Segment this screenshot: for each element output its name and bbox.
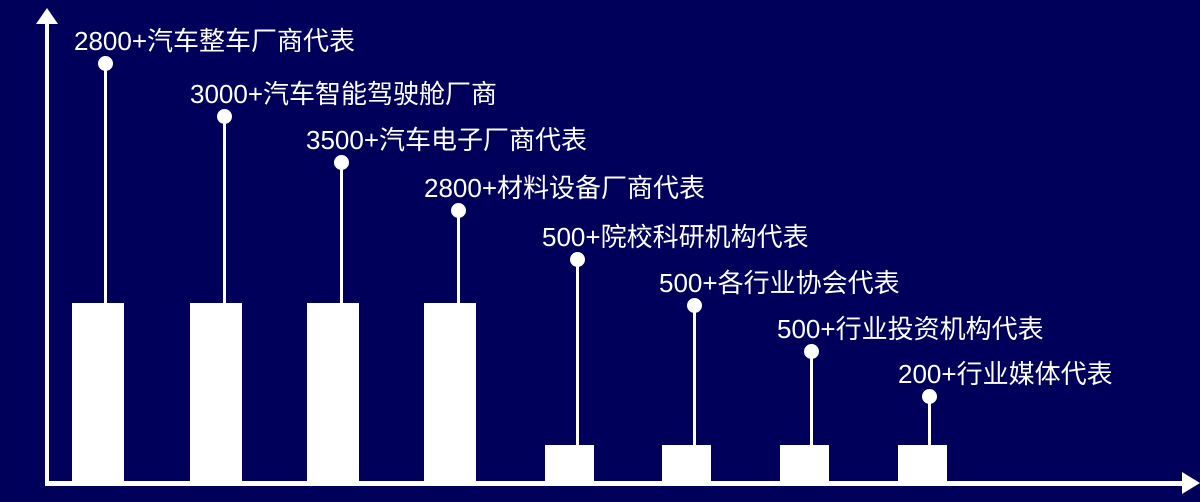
- callout-label-6: 500+各行业协会代表: [659, 268, 900, 298]
- bar-4: [424, 303, 476, 482]
- bar-5: [545, 445, 594, 482]
- callout-stem-1: [104, 63, 107, 303]
- bar-8: [898, 445, 947, 482]
- callout-dot-7: [804, 344, 819, 359]
- bar-1: [72, 303, 124, 482]
- callout-stem-7: [810, 351, 813, 445]
- bar-6: [662, 445, 711, 482]
- callout-dot-6: [687, 298, 702, 313]
- callout-stem-4: [457, 210, 460, 303]
- callout-label-1: 2800+汽车整车厂商代表: [74, 26, 355, 56]
- callout-label-5: 500+院校科研机构代表: [542, 222, 809, 252]
- callout-dot-8: [922, 389, 937, 404]
- callout-label-4: 2800+材料设备厂商代表: [424, 173, 705, 203]
- bar-7: [780, 445, 829, 482]
- callout-stem-6: [693, 305, 696, 445]
- callout-stem-2: [223, 116, 226, 303]
- attendee-composition-chart: 2800+汽车整车厂商代表3000+汽车智能驾驶舱厂商3500+汽车电子厂商代表…: [0, 0, 1200, 502]
- callout-stem-5: [576, 259, 579, 445]
- callout-dot-2: [217, 109, 232, 124]
- bar-2: [190, 303, 242, 482]
- callout-stem-3: [340, 162, 343, 303]
- y-axis-arrow-icon: [36, 8, 58, 24]
- callout-label-8: 200+行业媒体代表: [898, 359, 1113, 389]
- x-axis-arrow-icon: [1182, 472, 1200, 494]
- callout-label-2: 3000+汽车智能驾驶舱厂商: [190, 79, 497, 109]
- callout-dot-5: [570, 252, 585, 267]
- callout-dot-3: [334, 155, 349, 170]
- callout-label-7: 500+行业投资机构代表: [777, 314, 1044, 344]
- callout-dot-1: [98, 56, 113, 71]
- bar-3: [307, 303, 359, 482]
- y-axis-line: [45, 22, 49, 483]
- callout-dot-4: [451, 203, 466, 218]
- callout-label-3: 3500+汽车电子厂商代表: [306, 125, 587, 155]
